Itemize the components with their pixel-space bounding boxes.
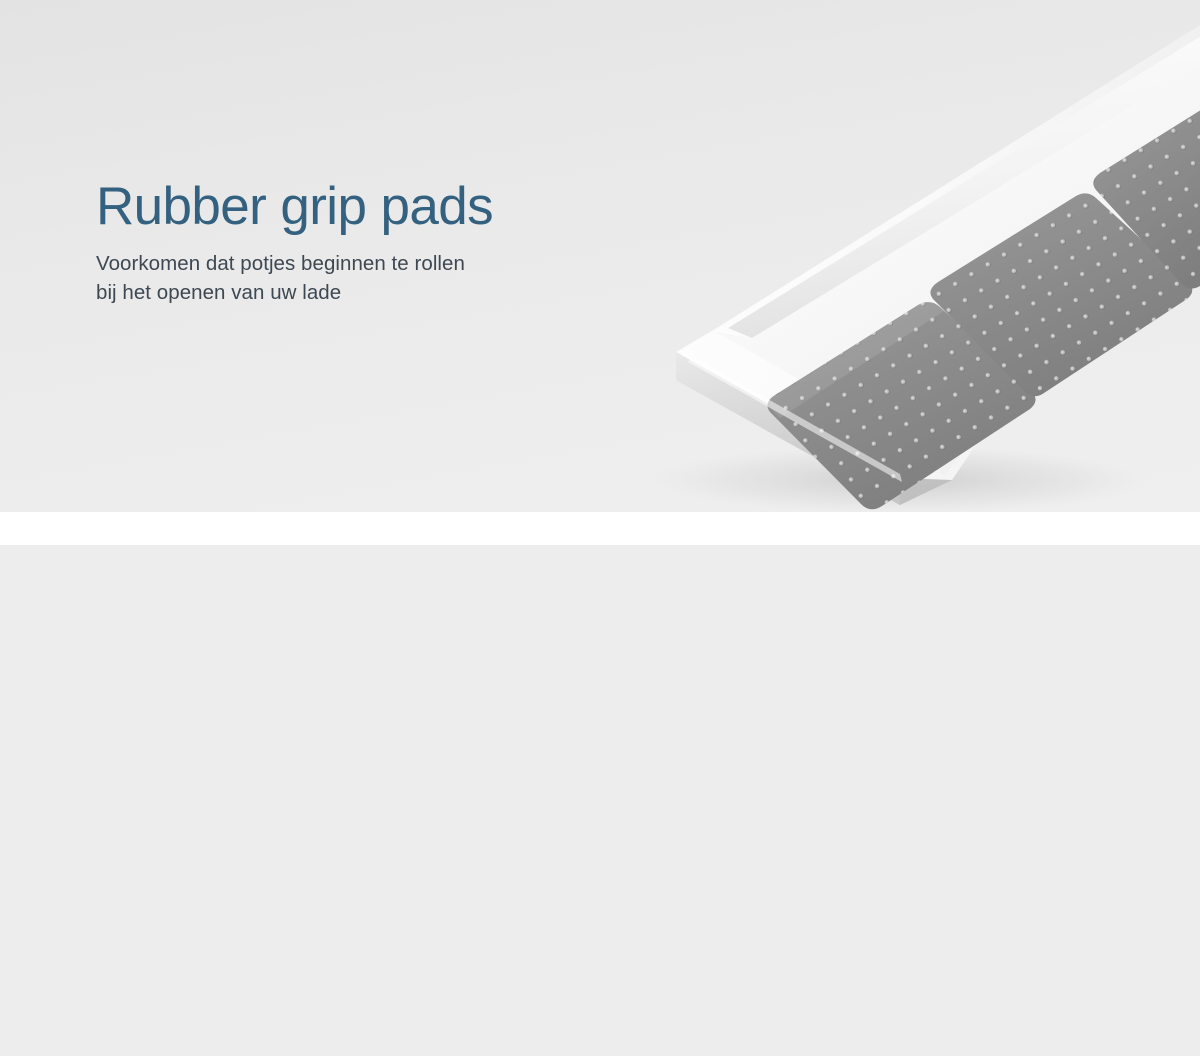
feature-description-top-line-2: bij het openen van uw lade bbox=[96, 278, 636, 307]
feature-description-top: Voorkomen dat potjes beginnen te rollen … bbox=[96, 249, 636, 307]
panel-divider bbox=[0, 512, 1200, 545]
feature-panel-rubber-grip-pads: Rubber grip pads Voorkomen dat potjes be… bbox=[0, 0, 1200, 512]
feature-panel-stijlvol-design: Stijlvol design Het minimalistische desi… bbox=[0, 545, 1200, 1056]
feature-description-top-line-1: Voorkomen dat potjes beginnen te rollen bbox=[96, 249, 636, 278]
product-image-tray-angled bbox=[600, 0, 1200, 512]
feature-copy-top: Rubber grip pads Voorkomen dat potjes be… bbox=[96, 178, 636, 307]
product-feature-page: Rubber grip pads Voorkomen dat potjes be… bbox=[0, 0, 1200, 1056]
page-title-rubber-grip-pads: Rubber grip pads bbox=[96, 178, 636, 235]
